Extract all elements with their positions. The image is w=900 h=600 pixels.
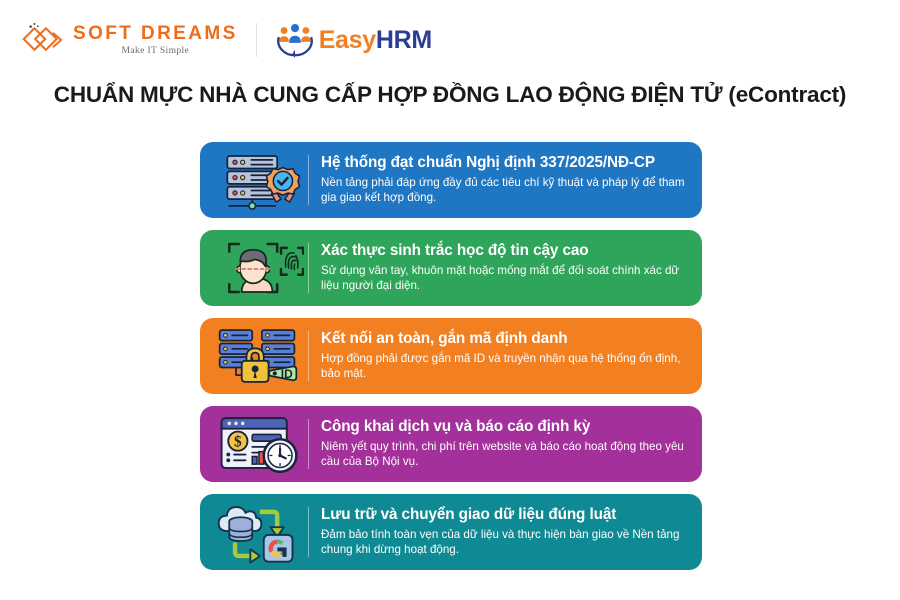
softdreams-tagline: Make IT Simple	[121, 46, 189, 56]
card-divider	[308, 419, 309, 469]
interlocking-diamonds-icon	[22, 20, 66, 60]
card-description: Hợp đồng phải được gắn mã ID và truyền n…	[321, 351, 686, 382]
card-secure-connection-id: ID Kết nối an toàn, gắn mã định danh Hợp…	[200, 318, 702, 394]
logo-divider	[256, 23, 257, 57]
card-text-block: Hệ thống đạt chuẩn Nghị định 337/2025/NĐ…	[321, 154, 688, 205]
server-verified-badge-icon	[210, 147, 306, 213]
svg-text:ID: ID	[281, 367, 293, 381]
card-public-service-report: $	[200, 406, 702, 482]
card-text-block: Kết nối an toàn, gắn mã định danh Hợp đồ…	[321, 330, 688, 381]
cloud-database-transfer-icon	[210, 499, 306, 565]
card-description: Niêm yết quy trình, chi phí trên website…	[321, 439, 686, 470]
easyhrm-name-part1: Easy	[319, 26, 376, 54]
criteria-card-list: Hệ thống đạt chuẩn Nghị định 337/2025/NĐ…	[200, 142, 702, 570]
card-divider	[308, 155, 309, 205]
card-title: Kết nối an toàn, gắn mã định danh	[321, 330, 686, 348]
card-text-block: Công khai dịch vụ và báo cáo định kỳ Niê…	[321, 418, 688, 469]
easyhrm-logo: EasyHRM	[275, 21, 432, 59]
card-data-storage-transfer: Lưu trữ và chuyển giao dữ liệu đúng luật…	[200, 494, 702, 570]
card-title: Hệ thống đạt chuẩn Nghị định 337/2025/NĐ…	[321, 154, 686, 172]
easyhrm-wordmark: EasyHRM	[319, 28, 432, 53]
easyhrm-name-part2: HRM	[376, 26, 432, 54]
infographic-page: SOFT DREAMS Make IT Simple EasyHRM	[0, 0, 900, 600]
people-group-icon	[275, 21, 315, 59]
card-description: Sử dụng vân tay, khuôn mặt hoặc mống mắt…	[321, 263, 686, 294]
card-title: Công khai dịch vụ và báo cáo định kỳ	[321, 418, 686, 436]
card-biometric-auth: Xác thực sinh trắc học độ tin cậy cao Sử…	[200, 230, 702, 306]
brand-logo-bar: SOFT DREAMS Make IT Simple EasyHRM	[22, 16, 432, 64]
softdreams-logo: SOFT DREAMS Make IT Simple	[22, 20, 238, 60]
card-divider	[308, 507, 309, 557]
card-description: Nền tảng phải đáp ứng đầy đủ các tiêu ch…	[321, 175, 686, 206]
card-title: Xác thực sinh trắc học độ tin cậy cao	[321, 242, 686, 260]
card-standard-decree: Hệ thống đạt chuẩn Nghị định 337/2025/NĐ…	[200, 142, 702, 218]
servers-padlock-id-tag-icon: ID	[210, 323, 306, 389]
card-text-block: Xác thực sinh trắc học độ tin cậy cao Sử…	[321, 242, 688, 293]
website-pricing-clock-icon: $	[210, 411, 306, 477]
softdreams-name: SOFT DREAMS	[73, 24, 238, 43]
card-description: Đảm bảo tính toàn vẹn của dữ liệu và thự…	[321, 527, 686, 558]
svg-text:$: $	[234, 433, 242, 450]
card-title: Lưu trữ và chuyển giao dữ liệu đúng luật	[321, 506, 686, 524]
face-scan-fingerprint-icon	[210, 235, 306, 301]
page-title: CHUẨN MỰC NHÀ CUNG CẤP HỢP ĐỒNG LAO ĐỘNG…	[0, 82, 900, 108]
card-text-block: Lưu trữ và chuyển giao dữ liệu đúng luật…	[321, 506, 688, 557]
card-divider	[308, 243, 309, 293]
card-divider	[308, 331, 309, 381]
softdreams-wordmark: SOFT DREAMS Make IT Simple	[73, 24, 238, 56]
